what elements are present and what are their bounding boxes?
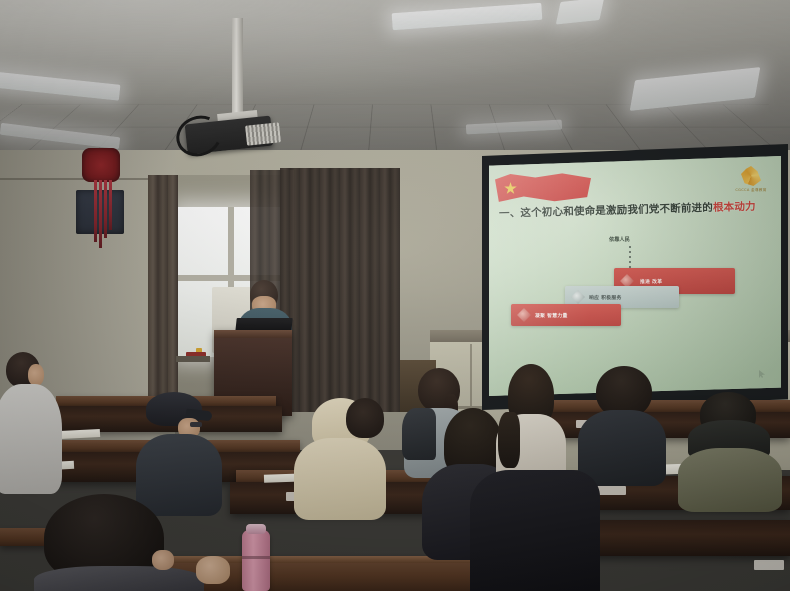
- projector-vent: [245, 122, 281, 145]
- podium-top: [214, 330, 292, 338]
- seat-label: [754, 560, 784, 570]
- student-foreground-left: [44, 494, 194, 591]
- student-head: [346, 398, 384, 438]
- student-gray-hoodie: [0, 352, 62, 492]
- pink-thermos-bottle[interactable]: [242, 530, 270, 591]
- student-torso: [294, 438, 386, 520]
- student-torso: [678, 448, 782, 512]
- projector-pole: [232, 18, 243, 126]
- desk-edge: [176, 356, 210, 362]
- chinese-knot: [78, 148, 124, 248]
- student-torso: [0, 384, 62, 494]
- thermos-cap: [246, 524, 266, 534]
- knot-body: [82, 148, 120, 182]
- student-ear: [152, 550, 174, 570]
- knot-tassel: [99, 180, 102, 248]
- student-white-top: [496, 364, 566, 482]
- classroom-photo: CGCCA 金尊教育 一、这个初心和使命是激励我们党不断前进的根本动力 依靠人民…: [0, 0, 790, 591]
- student-torso: [34, 566, 204, 591]
- student-torso: [578, 410, 666, 486]
- knot-tassel: [94, 180, 97, 242]
- student-black-shirt: [578, 366, 666, 482]
- student-olive-jacket: [686, 392, 782, 508]
- student-face: [28, 364, 44, 386]
- screen-glare: [489, 156, 781, 396]
- student-foreground-right: [470, 470, 600, 591]
- hand: [196, 556, 230, 584]
- thermos-band: [242, 556, 270, 559]
- glasses-icon: [190, 422, 202, 427]
- hair-strand: [498, 412, 520, 468]
- projection-screen[interactable]: CGCCA 金尊教育 一、这个初心和使命是激励我们党不断前进的根本动力 依靠人民…: [489, 156, 781, 396]
- seat-label: [596, 486, 626, 495]
- knot-tassel: [109, 180, 112, 230]
- knot-tassel: [104, 180, 107, 238]
- curtain-right: [280, 168, 400, 412]
- curtain-left: [148, 175, 178, 407]
